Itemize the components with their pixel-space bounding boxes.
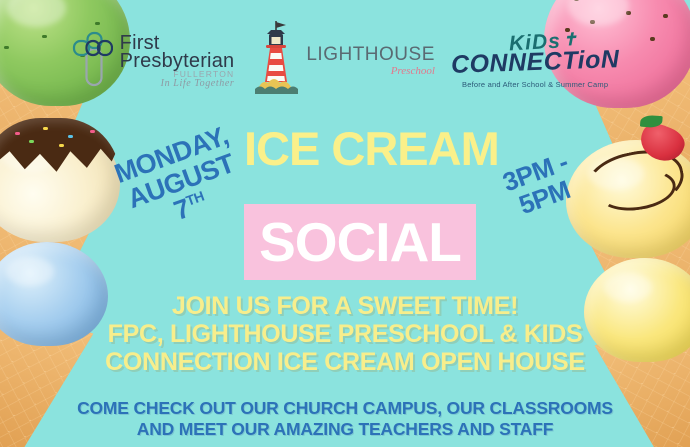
body-line-3: CONNECTION ICE CREAM OPEN HOUSE — [0, 348, 690, 376]
lighthouse-subtitle: Preschool — [306, 66, 435, 78]
logo-row: First Presbyterian FULLERTON In Life Tog… — [0, 14, 690, 108]
cross-icon: ✝ — [562, 30, 577, 47]
kids-connection-line-2: CONNECTioN — [451, 47, 620, 78]
body-line-2: FPC, LIGHTHOUSE PRESCHOOL & KIDS — [0, 320, 690, 348]
footer-line-2: AND MEET OUR AMAZING TEACHERS AND STAFF — [0, 419, 690, 440]
fpc-tagline: In Life Together — [120, 79, 235, 89]
fpc-line-2: Presbyterian — [120, 51, 235, 71]
title-social: SOCIAL — [259, 215, 461, 270]
body-line-1: JOIN US FOR A SWEET TIME! — [0, 292, 690, 320]
title-ice-cream: ICE CREAM — [244, 126, 478, 172]
ice-cream-social-flyer: First Presbyterian FULLERTON In Life Tog… — [0, 0, 690, 447]
lighthouse-name: LIGHTHOUSE — [306, 45, 435, 65]
lighthouse-preschool-logo: LIGHTHOUSE Preschool — [250, 19, 435, 104]
first-presbyterian-logo: First Presbyterian FULLERTON In Life Tog… — [71, 30, 235, 93]
headline-block: ICE CREAM SOCIAL — [244, 126, 478, 172]
footer-copy: COME CHECK OUT OUR CHURCH CAMPUS, OUR CL… — [0, 398, 690, 440]
body-copy: JOIN US FOR A SWEET TIME! FPC, LIGHTHOUS… — [0, 292, 690, 376]
footer-line-1: COME CHECK OUT OUR CHURCH CAMPUS, OUR CL… — [0, 398, 690, 419]
social-band: SOCIAL — [244, 204, 476, 280]
kids-connection-logo: KiDs ✝ CONNECTioN Before and After Schoo… — [451, 32, 619, 91]
lighthouse-icon — [250, 19, 302, 104]
kids-connection-subtitle: Before and After School & Summer Camp — [462, 80, 608, 89]
cross-logo-icon — [71, 30, 113, 93]
